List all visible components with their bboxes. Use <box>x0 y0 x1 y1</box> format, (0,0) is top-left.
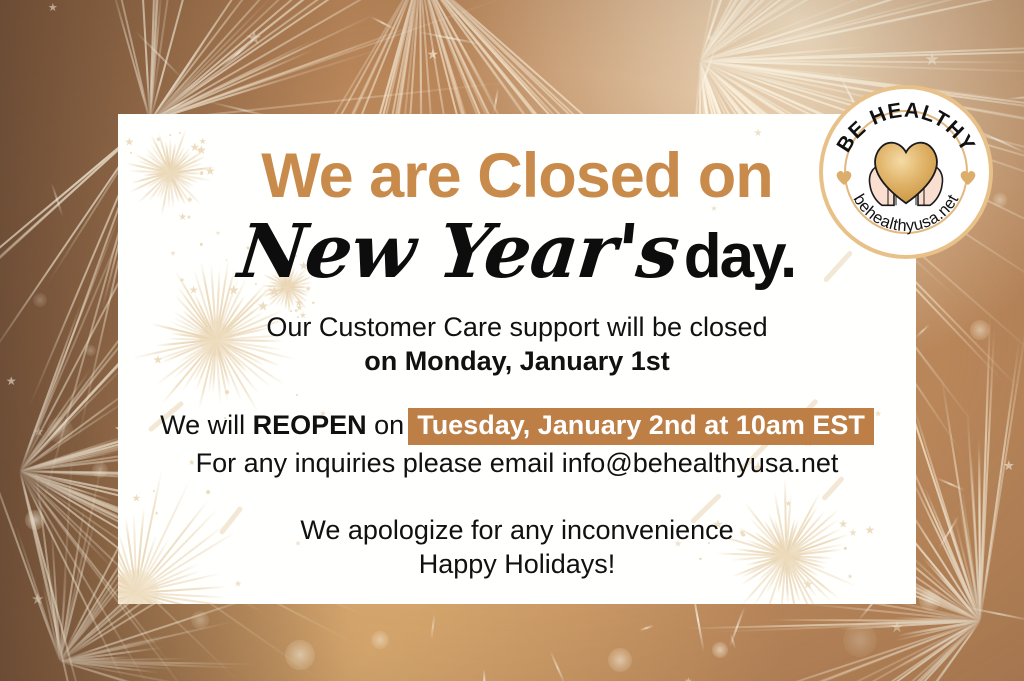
greeting-line: Happy Holidays! <box>118 549 916 580</box>
headline-secondary: New Year'sday. <box>118 209 916 295</box>
headline-bold-text: day. <box>684 221 795 292</box>
heart-in-hands-icon <box>860 127 952 213</box>
brand-logo-badge: BE HEALTHY behealthyusa.net <box>823 89 989 255</box>
mini-heart-right-icon <box>959 169 977 186</box>
mini-heart-left-icon <box>835 169 853 186</box>
reopen-line: We will REOPEN onTuesday, January 2nd at… <box>118 408 916 445</box>
apology-line: We apologize for any inconvenience <box>118 515 916 546</box>
closure-notice-line1: Our Customer Care support will be closed <box>118 312 916 343</box>
announcement-card: ★★★★★★★★★★★★★★★★★★★★★★★★★★★★★★★★★★★★★★★★… <box>118 114 916 604</box>
reopen-prefix: We will <box>160 410 253 440</box>
page-title: We are Closed on <box>118 140 916 212</box>
headline-script-text: New Year's <box>234 209 688 295</box>
closure-notice-line2: on Monday, January 1st <box>118 346 916 377</box>
contact-email-line: For any inquiries please email info@behe… <box>118 448 916 479</box>
reopen-keyword: REOPEN <box>253 410 367 440</box>
reopen-mid: on <box>367 410 405 440</box>
status-badge: Tuesday, January 2nd at 10am EST <box>408 408 874 445</box>
